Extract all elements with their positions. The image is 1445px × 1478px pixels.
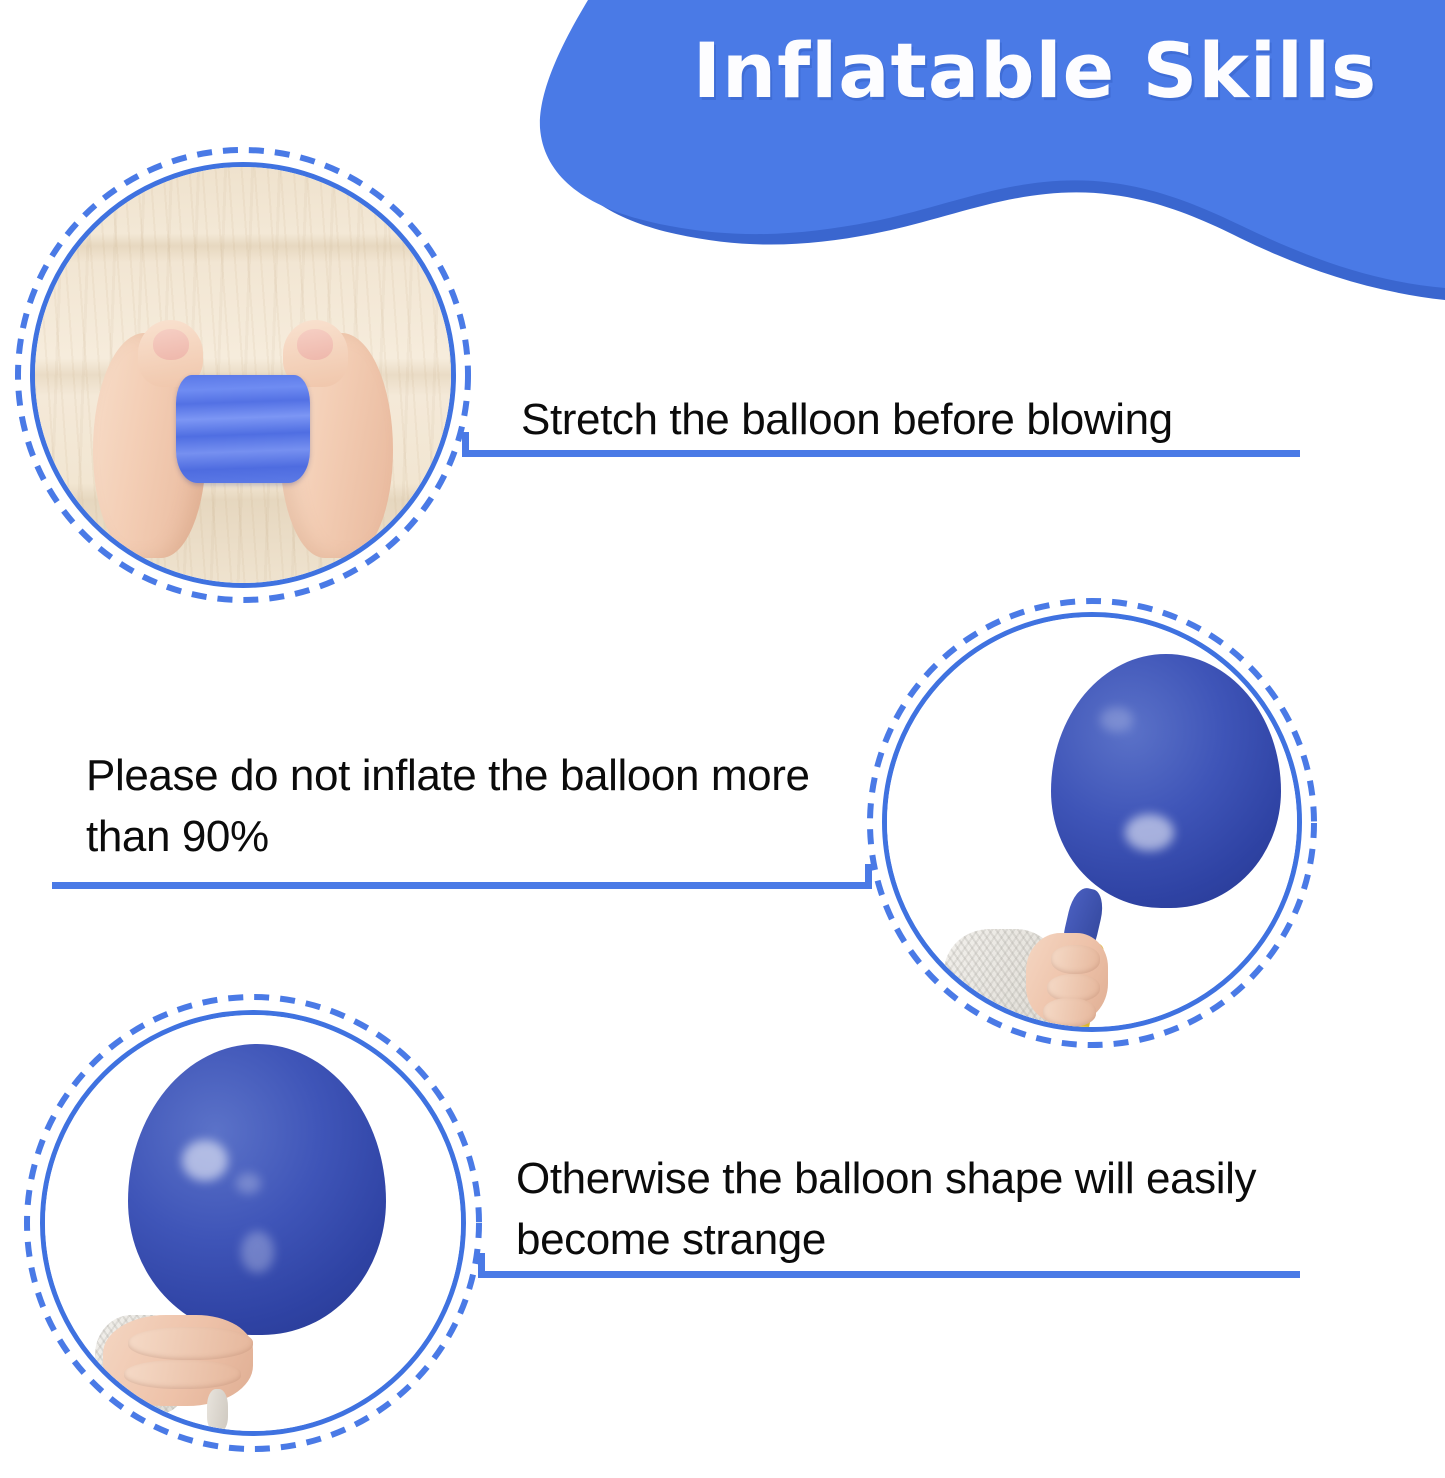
finger xyxy=(1043,998,1096,1027)
balloon-inflating xyxy=(1051,654,1281,908)
caption-stretch: Stretch the balloon before blowing xyxy=(521,389,1321,450)
step-image-stretch xyxy=(8,140,478,610)
right-thumbnail xyxy=(297,329,333,360)
step-image-balloon-pump xyxy=(862,588,1322,1058)
balloon-highlight xyxy=(182,1140,228,1182)
finger xyxy=(124,1360,240,1389)
infographic-page: Inflatable Skills Stretch the balloo xyxy=(0,0,1445,1478)
caption-rule-tick-otherwise xyxy=(478,1253,485,1275)
photo-hands-stretching-balloon xyxy=(30,162,456,588)
left-thumbnail xyxy=(153,329,189,360)
caption-line: Stretch the balloon before blowing xyxy=(521,389,1321,450)
caption-otherwise: Otherwise the balloon shape will easily … xyxy=(516,1148,1306,1270)
balloon-highlight-small xyxy=(236,1173,261,1194)
caption-line: become strange xyxy=(516,1209,1306,1270)
balloon-neck xyxy=(207,1389,228,1431)
stretched-balloon xyxy=(176,375,309,483)
caption-line: than 90% xyxy=(86,806,876,867)
caption-rule-stretch xyxy=(462,450,1300,457)
caption-ninety-percent: Please do not inflate the balloon more t… xyxy=(86,745,876,867)
caption-rule-tick-stretch xyxy=(462,432,469,454)
photo-inflated-balloon-in-hand xyxy=(40,1010,466,1436)
balloon-highlight-small xyxy=(1100,707,1133,732)
caption-line: Otherwise the balloon shape will easily xyxy=(516,1148,1306,1209)
step-image-inflated-balloon xyxy=(18,988,488,1458)
caption-rule-otherwise xyxy=(478,1271,1300,1278)
caption-rule-ninety-percent xyxy=(52,882,872,889)
photo-balloon-on-pump xyxy=(882,612,1302,1032)
caption-line: Please do not inflate the balloon more xyxy=(86,745,876,806)
finger xyxy=(1051,945,1100,974)
balloon-highlight xyxy=(1125,814,1174,851)
balloon-highlight-lower xyxy=(241,1231,274,1273)
page-title: Inflatable Skills xyxy=(620,26,1445,115)
finger xyxy=(128,1327,253,1360)
